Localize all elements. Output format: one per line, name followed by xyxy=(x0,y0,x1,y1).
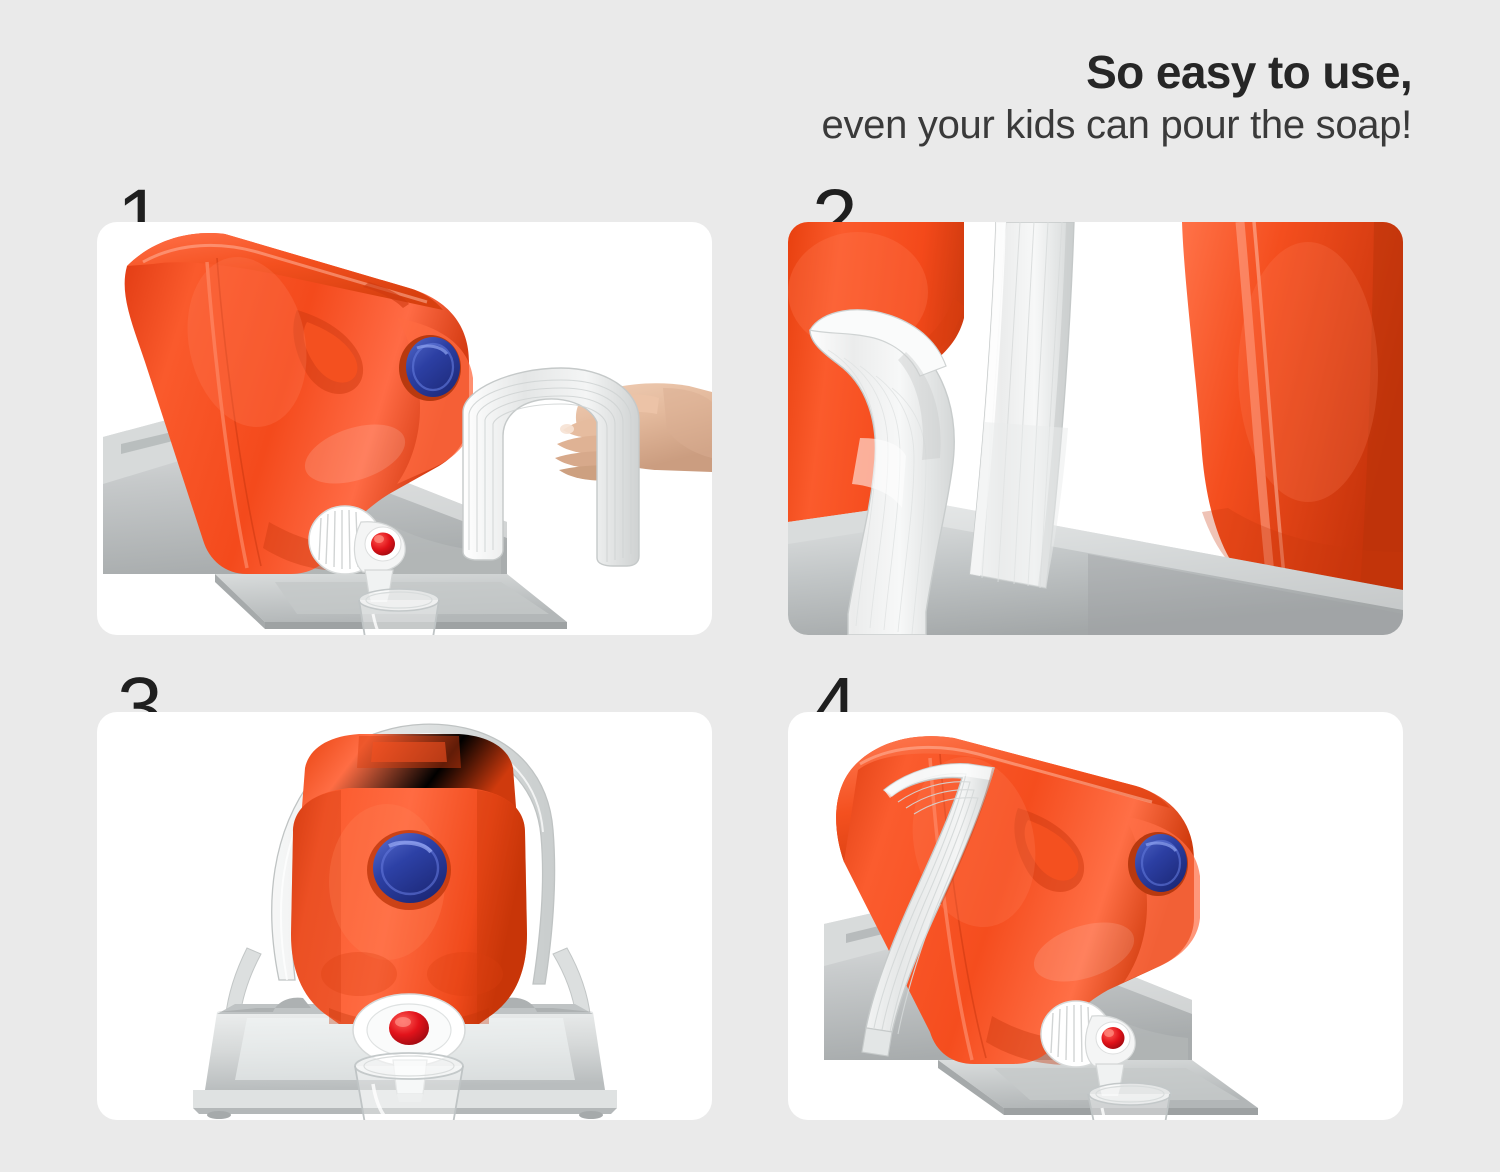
heading-block: So easy to use, even your kids can pour … xyxy=(612,48,1412,149)
blue-cap xyxy=(1128,832,1188,896)
detergent-bottle-right xyxy=(1182,222,1403,590)
step-panel-1 xyxy=(97,222,712,635)
step-panel-4 xyxy=(788,712,1403,1120)
measuring-cup xyxy=(1088,1083,1171,1120)
heading-line-2: even your kids can pour the soap! xyxy=(612,102,1412,149)
measuring-cup xyxy=(355,1053,463,1120)
blue-cap xyxy=(367,830,451,910)
step-panel-3 xyxy=(97,712,712,1120)
step-panel-2 xyxy=(788,222,1403,635)
heading-line-1: So easy to use, xyxy=(612,48,1412,98)
blue-cap xyxy=(399,335,461,401)
measuring-cup xyxy=(359,589,439,635)
velcro-strap xyxy=(463,368,639,566)
